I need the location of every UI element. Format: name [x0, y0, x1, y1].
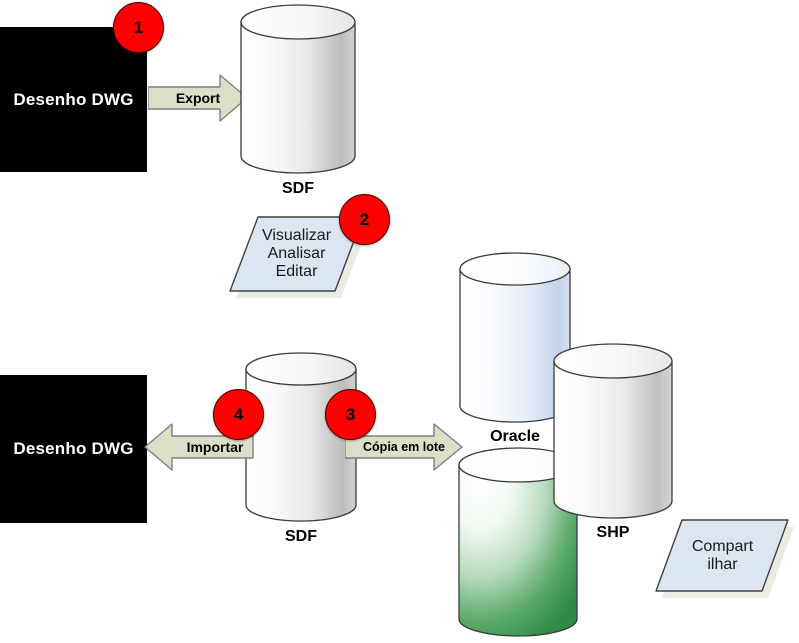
badge-1[interactable]: 1: [113, 2, 164, 53]
badge-2-number: 2: [360, 211, 369, 228]
badge-4-number: 4: [234, 406, 243, 423]
badge-2[interactable]: 2: [339, 194, 390, 245]
badge-4[interactable]: 4: [213, 389, 264, 440]
diagram-canvas: Desenho DWG Export: [0, 0, 799, 643]
parallelogram-compartilhar[interactable]: Compart ilhar: [655, 513, 790, 598]
cylinder-sdf-top-label: SDF: [240, 180, 356, 198]
cylinder-sdf-top[interactable]: SDF: [240, 4, 356, 174]
dwg-box-top-label: Desenho DWG: [13, 90, 133, 110]
badge-3-number: 3: [346, 406, 355, 423]
cylinder-sdf-bottom-label: SDF: [245, 528, 357, 546]
arrow-export[interactable]: Export: [148, 73, 248, 123]
cylinder-shp[interactable]: SHP: [553, 344, 673, 520]
dwg-box-bottom[interactable]: Desenho DWG: [0, 375, 147, 523]
dwg-box-bottom-label: Desenho DWG: [13, 439, 133, 459]
badge-3[interactable]: 3: [325, 389, 376, 440]
badge-1-number: 1: [134, 19, 143, 36]
